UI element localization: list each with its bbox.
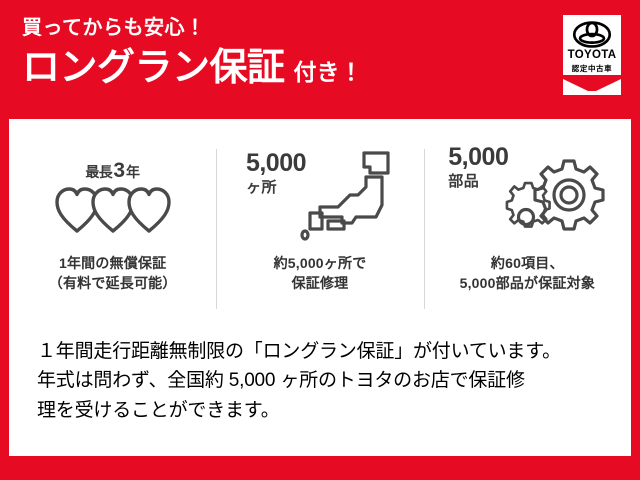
- header-headline-row: ロングラン保証 付き！: [22, 49, 363, 87]
- map-group: 5,000 ヶ所: [246, 151, 394, 243]
- locations-number: 5,000: [246, 151, 306, 176]
- content-card: 最長 3 年 1年間の無償: [9, 119, 631, 456]
- caption-line-2: （有料で延長可能）: [49, 273, 177, 293]
- feature-caption-service-locations: 約5,000ヶ所で 保証修理: [274, 253, 367, 294]
- feature-warranty-term: 最長 3 年 1年間の無償: [9, 141, 216, 331]
- header-kicker: 買ってからも安心！: [22, 18, 363, 38]
- max-term-badge: 最長 3 年: [85, 160, 140, 181]
- feature-visual-gears: 5,000 部品: [424, 141, 631, 253]
- feature-columns: 最長 3 年 1年間の無償: [9, 141, 631, 331]
- banner-header: 買ってからも安心！ ロングラン保証 付き！ TOYOTA 認定中古車: [0, 0, 640, 112]
- caption-line-1: 約5,000ヶ所で: [274, 253, 367, 273]
- toyota-emblem-icon: [572, 21, 612, 48]
- parts-unit: 部品: [448, 174, 508, 189]
- caption-line-1: 1年間の無償保証: [49, 253, 177, 273]
- feature-visual-map: 5,000 ヶ所: [216, 141, 423, 253]
- header-headline-main: ロングラン保証: [22, 49, 285, 87]
- feature-covered-parts: 5,000 部品: [424, 141, 631, 331]
- caption-line-1: 約60項目、: [460, 253, 595, 273]
- red-chevron-icon: [563, 75, 621, 91]
- max-term-prefix: 最長: [85, 165, 112, 179]
- header-headline-suffix: 付き！: [294, 61, 363, 84]
- toyota-wordmark: TOYOTA: [568, 50, 617, 62]
- body-copy-line-3: 理を受けることができます。: [37, 396, 617, 425]
- feature-caption-covered-parts: 約60項目、 5,000部品が保証対象: [460, 253, 595, 294]
- feature-service-locations: 5,000 ヶ所: [216, 141, 423, 331]
- two-gears-icon: [502, 153, 606, 249]
- japan-map-icon: [298, 147, 394, 243]
- feature-visual-hearts: 最長 3 年: [9, 141, 216, 253]
- gears-group: 5,000 部品: [448, 145, 606, 249]
- feature-caption-warranty-term: 1年間の無償保証 （有料で延長可能）: [49, 253, 177, 294]
- parts-number: 5,000: [448, 145, 508, 170]
- parts-number-block: 5,000 部品: [448, 145, 508, 189]
- body-copy-line-2: 年式は問わず、全国約 5,000 ヶ所のトヨタのお店で保証修: [37, 366, 617, 395]
- caption-line-2: 保証修理: [274, 273, 367, 293]
- locations-number-block: 5,000 ヶ所: [246, 151, 306, 195]
- toyota-certified-label: 認定中古車: [572, 65, 613, 73]
- caption-line-2: 5,000部品が保証対象: [460, 273, 595, 293]
- max-term-number: 3: [113, 160, 125, 181]
- body-copy: １年間走行距離無制限の「ロングラン保証」が付いています。 年式は問わず、全国約 …: [37, 337, 617, 425]
- locations-unit: ヶ所: [246, 180, 306, 195]
- max-term-unit: 年: [126, 165, 140, 179]
- toyota-certified-logo: TOYOTA 認定中古車: [561, 13, 623, 97]
- three-hearts-icon: [55, 185, 171, 235]
- longrun-warranty-banner: 買ってからも安心！ ロングラン保証 付き！ TOYOTA 認定中古車: [0, 0, 640, 480]
- header-text-group: 買ってからも安心！ ロングラン保証 付き！: [22, 18, 363, 87]
- body-copy-line-1: １年間走行距離無制限の「ロングラン保証」が付いています。: [37, 337, 617, 366]
- hearts-group: 最長 3 年: [55, 160, 171, 235]
